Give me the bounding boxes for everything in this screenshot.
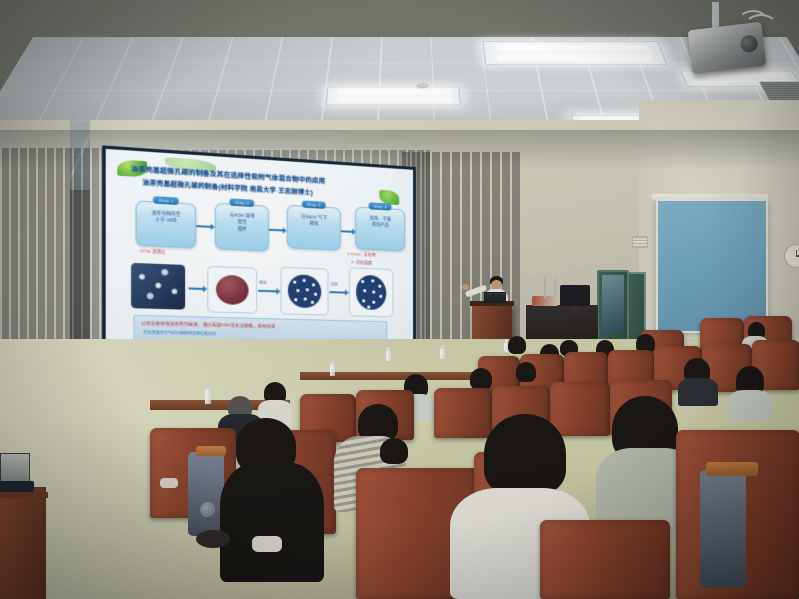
equipment-rack (597, 270, 629, 342)
slide-note-right-1: Y. KOH : 活化剂 (347, 251, 376, 258)
projection-screen: 油茶壳基超微孔碳的制备及其在选择性吸附气体混合物中的应用 油茶壳基超微孔碳的制备… (102, 145, 416, 356)
monitor-stand (572, 306, 579, 311)
slide-step-box: Step 1 油茶壳粉碎至 小于 40目 (136, 200, 197, 248)
rack-glass-door (602, 275, 624, 333)
side-table (0, 487, 46, 599)
step-header: Step 3 (302, 200, 326, 209)
water-bottle (386, 350, 391, 361)
step-header: Step 2 (229, 198, 254, 207)
caption-line-2: 的比表面积与气体分离吸附选择性能应用 (144, 330, 216, 337)
carbonized-sample (216, 275, 249, 306)
desk-lamp-pole (554, 278, 556, 298)
step-text: 与KOH 溶液 混合 搅拌 (216, 204, 268, 234)
laptop-screen (485, 293, 505, 302)
step-header: Step 4 (369, 202, 392, 210)
step-header: Step 1 (153, 196, 179, 205)
porous-carbon-2 (356, 275, 386, 310)
audience-member (380, 438, 408, 464)
seat-side-panel (700, 470, 746, 588)
carbonized-sample-box (207, 266, 257, 314)
ceiling-light-fixture (483, 41, 668, 65)
projector-mount (712, 2, 719, 28)
arrow-label-1: 碳化 (259, 280, 267, 285)
seat-cushion (706, 462, 758, 476)
seat-cushion (196, 446, 226, 456)
audience-member (220, 462, 324, 582)
auditorium-seat (550, 382, 610, 436)
window-blackout-blind (656, 199, 768, 333)
slide-content: 油茶壳基超微孔碳的制备及其在选择性吸附气体混合物中的应用 油茶壳基超微孔碳的制备… (106, 149, 413, 353)
lecture-hall-photo: 油茶壳基超微孔碳的制备及其在选择性吸附气体混合物中的应用 油茶壳基超微孔碳的制备… (0, 0, 799, 599)
slide-note-left: OT% 浸渍比 (140, 248, 165, 256)
slide-step-box: Step 3 在N2/Ar 气下 碳化 (287, 205, 341, 251)
wall-speaker (632, 236, 648, 248)
step-text: 在N2/Ar 气下 碳化 (288, 206, 340, 229)
seat-side-panel (188, 452, 224, 536)
audience-member (484, 414, 566, 494)
audience-member (728, 390, 772, 420)
ceiling-light-fixture (325, 87, 460, 106)
step-text: 洗涤、干燥 得到产品 (356, 208, 404, 231)
arrow-label-2: 活化 (331, 282, 338, 287)
water-bottle (440, 348, 445, 359)
water-bottle (205, 390, 211, 404)
desk-lamp-pole (544, 276, 546, 298)
laptop-on-podium (484, 292, 506, 303)
raw-material-image (131, 263, 185, 310)
smoke-detector-icon (417, 83, 428, 87)
caption-line-1: 以农业废弃物油茶壳为碳源，通过高温KOH活化法制备，具有较高 (141, 320, 275, 330)
speaker-hand (462, 284, 469, 290)
slide-step-box: Step 2 与KOH 溶液 混合 搅拌 (215, 203, 269, 252)
porous-carbon-box-2 (349, 267, 393, 317)
auditorium-seat (434, 388, 492, 438)
slide-note-right-2: X. 活化温度 (351, 259, 372, 266)
porous-carbon-box-1 (281, 267, 329, 316)
slide-step-box: Step 4 洗涤、干燥 得到产品 (355, 207, 405, 252)
auditorium-seat (540, 520, 670, 599)
seat-pedestal (196, 530, 230, 548)
audience-member (470, 368, 492, 390)
audience-footwear (160, 478, 178, 488)
ceiling-projector (690, 8, 799, 68)
porous-carbon-1 (288, 274, 321, 308)
desk-monitor (560, 285, 590, 306)
audience-member (508, 336, 526, 354)
projector-cable (744, 14, 778, 40)
audience-footwear (252, 536, 282, 552)
audience-member (678, 378, 718, 406)
step-text: 油茶壳粉碎至 小于 40目 (137, 202, 195, 226)
audience-member (516, 362, 536, 382)
seat-medallion-icon (200, 502, 215, 517)
water-bottle (330, 364, 335, 376)
